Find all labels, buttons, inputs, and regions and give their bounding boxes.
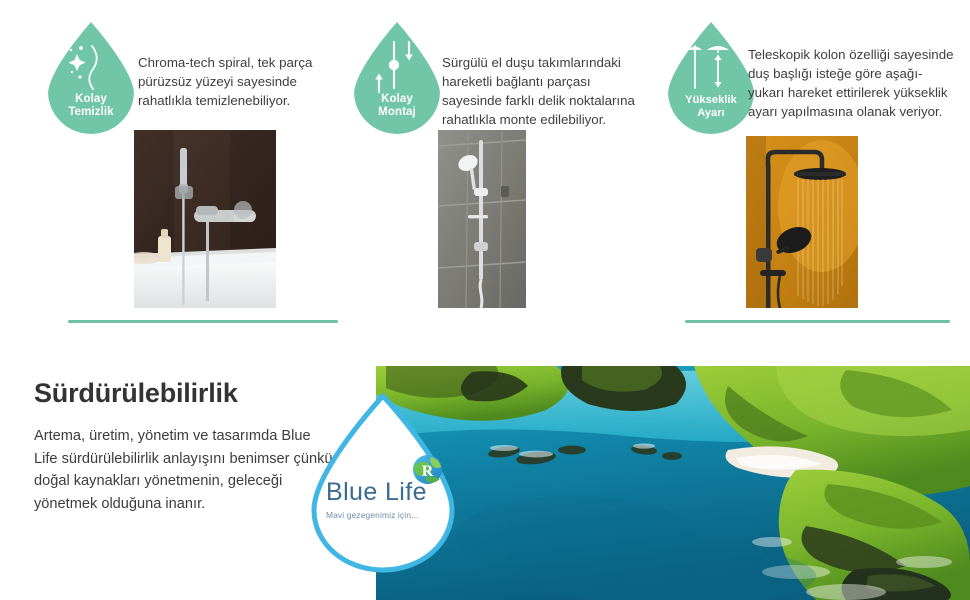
logo-text-block: Blue Life Mavi gezegenimiz için... — [326, 480, 448, 520]
feature-droplet-label: Kolay Temizlik — [48, 93, 134, 120]
bathtub-chrome-tap-photo — [134, 130, 276, 308]
feature-divider — [685, 320, 950, 323]
feature-droplet-badge: Kolay Temizlik — [48, 22, 134, 134]
feature-description: Sürgülü el duşu takımlarındaki hareketli… — [442, 54, 642, 130]
feature-description: Chroma-tech spiral, tek parça pürüzsüz y… — [138, 54, 334, 111]
feature-description: Teleskopik kolon özelliği sayesinde duş … — [748, 46, 954, 122]
feature-droplet-badge: Kolay Montaj — [354, 22, 440, 134]
sustainability-block: Sürdürülebilirlik Artema, üretim, yöneti… — [34, 378, 334, 515]
feature-divider — [68, 320, 338, 323]
droplet-label-line1: Kolay — [354, 93, 440, 107]
droplet-label-line1: Kolay — [48, 93, 134, 107]
sliding-shower-rail-photo — [438, 130, 526, 308]
brochure-page: Kolay Temizlik Chroma-tech spiral, tek p… — [0, 0, 970, 600]
rain-shower-column-photo — [746, 136, 858, 308]
aerial-coastline-photo — [376, 366, 970, 600]
logo-title: Blue Life — [326, 480, 448, 505]
logo-tagline: Mavi gezegenimiz için... — [326, 510, 448, 520]
sustainability-body: Artema, üretim, yönetim ve tasarımda Blu… — [34, 425, 334, 515]
feature-droplet-badge: Yükseklik Ayarı — [668, 22, 754, 134]
droplet-label-line1: Yükseklik — [668, 94, 754, 107]
feature-row: Kolay Temizlik Chroma-tech spiral, tek p… — [0, 0, 970, 340]
blue-life-logo: R Blue Life Mavi gezegenimiz için... — [308, 392, 458, 574]
feature-droplet-label: Yükseklik Ayarı — [668, 94, 754, 120]
droplet-label-line2: Temizlik — [48, 106, 134, 120]
droplet-label-line2: Ayarı — [668, 107, 754, 120]
sustainability-heading: Sürdürülebilirlik — [34, 378, 334, 409]
feature-droplet-label: Kolay Montaj — [354, 93, 440, 120]
droplet-label-line2: Montaj — [354, 106, 440, 120]
